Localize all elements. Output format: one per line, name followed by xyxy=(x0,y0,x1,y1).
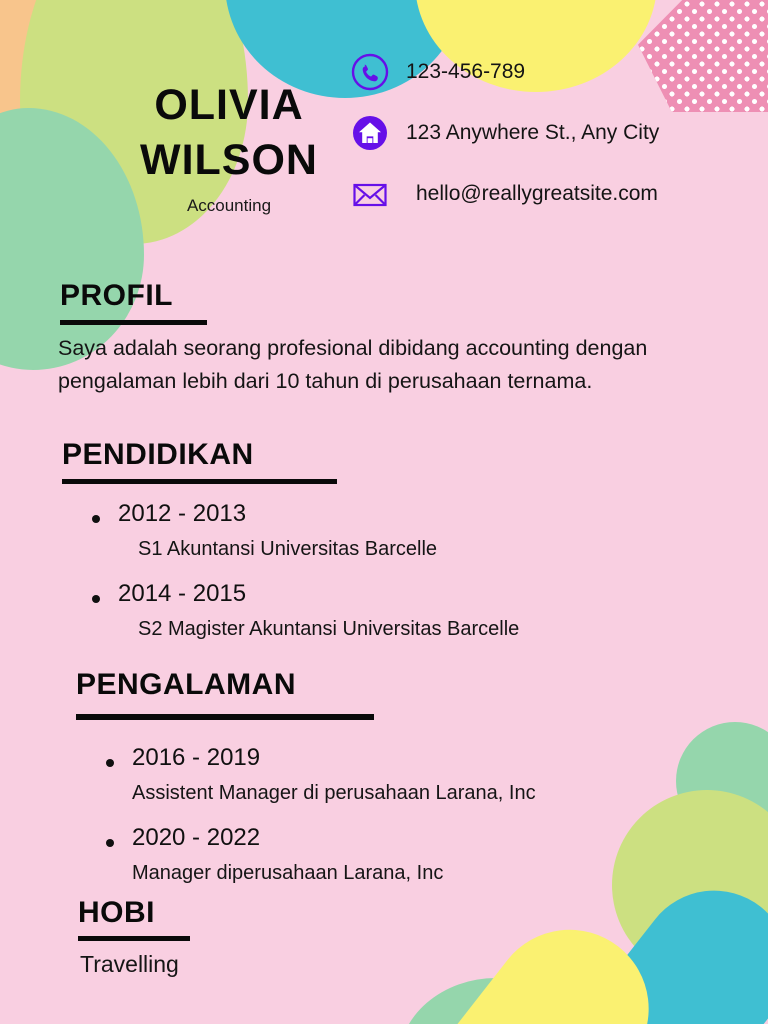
section-heading-pengalaman: PENGALAMAN xyxy=(76,670,374,700)
section-rule-pengalaman xyxy=(76,714,374,720)
list-item: 2016 - 2019 Assistent Manager di perusah… xyxy=(106,744,766,806)
pendidikan-range: 2012 - 2013 xyxy=(118,500,752,529)
envelope-icon xyxy=(350,174,390,214)
pengalaman-detail: Assistent Manager di perusahaan Larana, … xyxy=(132,780,766,806)
contact-value-phone: 123-456-789 xyxy=(406,60,525,84)
last-name: WILSON xyxy=(116,133,342,188)
pengalaman-list: 2016 - 2019 Assistent Manager di perusah… xyxy=(106,744,766,904)
pendidikan-list: 2012 - 2013 S1 Akuntansi Universitas Bar… xyxy=(92,500,752,660)
list-item: 2012 - 2013 S1 Akuntansi Universitas Bar… xyxy=(92,500,752,562)
section-pengalaman: PENGALAMAN xyxy=(76,670,374,720)
home-icon xyxy=(350,113,390,153)
section-heading-profil: PROFIL xyxy=(60,281,207,311)
resume-page: OLIVIA WILSON Accounting 123-456-789 xyxy=(0,0,768,1024)
section-rule-hobi xyxy=(78,936,190,941)
contact-value-email: hello@reallygreatsite.com xyxy=(416,182,658,206)
bullet-icon xyxy=(106,759,114,767)
bullet-icon xyxy=(106,839,114,847)
section-rule-pendidikan xyxy=(62,479,337,484)
section-rule-profil xyxy=(60,320,207,325)
section-hobi: HOBI xyxy=(78,898,190,941)
name-block: OLIVIA WILSON Accounting xyxy=(116,78,342,216)
hobi-body-text: Travelling xyxy=(80,950,179,980)
bullet-icon xyxy=(92,515,100,523)
pendidikan-range: 2014 - 2015 xyxy=(118,580,752,609)
job-title: Accounting xyxy=(116,196,342,216)
pendidikan-detail: S2 Magister Akuntansi Universitas Barcel… xyxy=(138,616,752,642)
contact-list: 123-456-789 123 Anywhere St., Any City xyxy=(350,52,659,214)
contact-value-address: 123 Anywhere St., Any City xyxy=(406,121,659,145)
section-heading-pendidikan: PENDIDIKAN xyxy=(62,440,337,470)
hobi-body-wrapper: Travelling xyxy=(80,950,179,980)
section-heading-hobi: HOBI xyxy=(78,898,190,928)
pengalaman-detail: Manager diperusahaan Larana, Inc xyxy=(132,860,766,886)
profil-body-text: Saya adalah seorang profesional dibidang… xyxy=(58,332,738,397)
section-profil: PROFIL xyxy=(60,281,207,325)
profil-body-wrapper: Saya adalah seorang profesional dibidang… xyxy=(58,332,738,397)
pengalaman-range: 2020 - 2022 xyxy=(132,824,766,853)
contact-row-phone[interactable]: 123-456-789 xyxy=(350,52,659,92)
orange-circle-shape-bottom xyxy=(430,1000,580,1024)
list-item: 2014 - 2015 S2 Magister Akuntansi Univer… xyxy=(92,580,752,642)
first-name: OLIVIA xyxy=(116,78,342,133)
list-item: 2020 - 2022 Manager diperusahaan Larana,… xyxy=(106,824,766,886)
pengalaman-range: 2016 - 2019 xyxy=(132,744,766,773)
mint-circle-shape-bottom xyxy=(398,978,594,1024)
yellow-capsule-shape xyxy=(297,898,680,1024)
section-pendidikan: PENDIDIKAN xyxy=(62,440,337,484)
orange-teardrop-shape xyxy=(0,0,122,242)
bullet-icon xyxy=(92,595,100,603)
contact-row-address[interactable]: 123 Anywhere St., Any City xyxy=(350,113,659,153)
pendidikan-detail: S1 Akuntansi Universitas Barcelle xyxy=(138,536,752,562)
phone-icon xyxy=(350,52,390,92)
contact-row-email[interactable]: hello@reallygreatsite.com xyxy=(350,174,659,214)
